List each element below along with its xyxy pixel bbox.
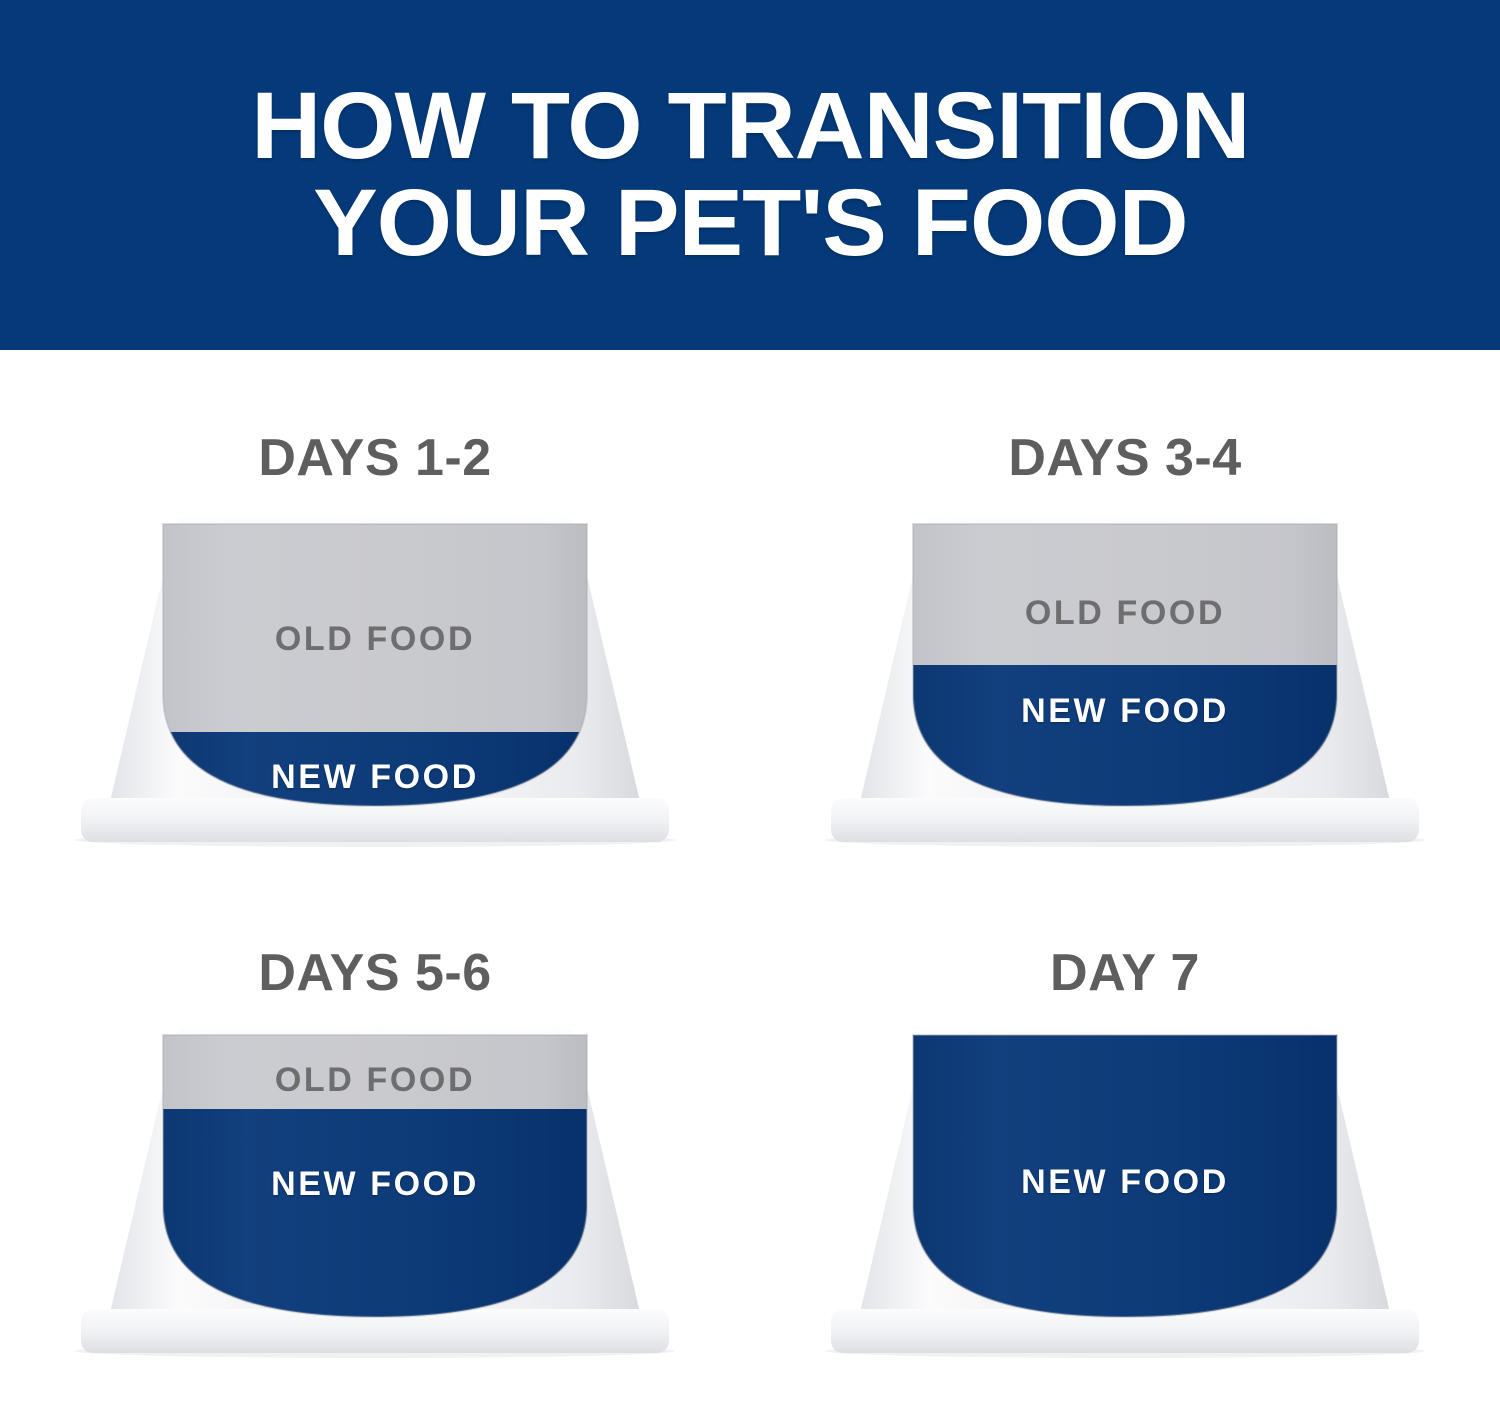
bowl-illustration <box>795 506 1455 866</box>
bowl-days-3-4: OLD FOOD NEW FOOD <box>795 506 1455 866</box>
transition-steps-grid: DAYS 1-2 <box>0 350 1500 1401</box>
bowl-illustration <box>795 1017 1455 1377</box>
bowl-day-7: NEW FOOD <box>795 1017 1455 1377</box>
transition-step-days-3-4: DAYS 3-4 <box>750 350 1500 885</box>
step-label-day-7: DAY 7 <box>1050 947 1200 999</box>
page-title: HOW TO TRANSITION YOUR PET'S FOOD <box>210 78 1290 272</box>
transition-step-days-5-6: DAYS 5-6 <box>0 885 750 1401</box>
bowl-days-5-6: OLD FOOD NEW FOOD <box>45 1017 705 1377</box>
new-food-fill <box>895 1031 1355 1331</box>
step-label-days-3-4: DAYS 3-4 <box>1008 432 1241 484</box>
bowl-illustration <box>45 506 705 866</box>
transition-step-day-7: DAY 7 <box>750 885 1500 1401</box>
bowl-days-1-2: OLD FOOD NEW FOOD <box>45 506 705 866</box>
transition-step-days-1-2: DAYS 1-2 <box>0 350 750 885</box>
header-banner: HOW TO TRANSITION YOUR PET'S FOOD <box>0 0 1500 350</box>
step-label-days-1-2: DAYS 1-2 <box>258 432 491 484</box>
step-label-days-5-6: DAYS 5-6 <box>258 947 491 999</box>
bowl-illustration <box>45 1017 705 1377</box>
